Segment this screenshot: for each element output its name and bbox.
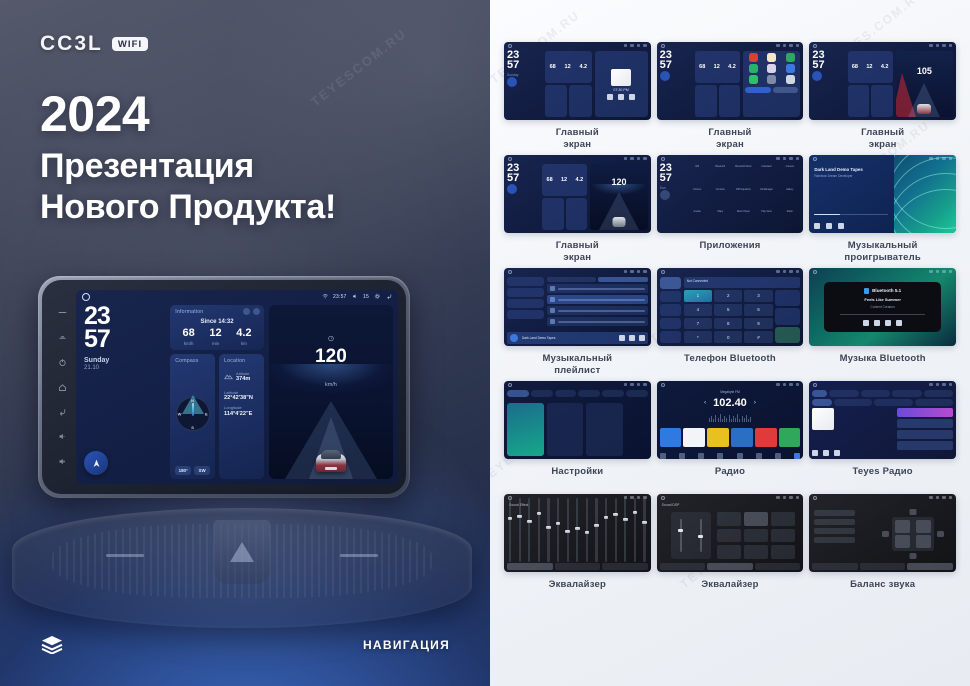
since-label: Since 14:32: [175, 319, 259, 325]
car-plate: [325, 467, 337, 470]
altitude-label: Altitude: [236, 371, 250, 376]
home-circle-icon: [661, 496, 665, 500]
layers-icon: [40, 635, 64, 654]
thumbnail-caption: Главный экран: [861, 127, 904, 151]
favorite-icon[interactable]: [775, 290, 801, 306]
progress-bar[interactable]: [814, 214, 887, 216]
eq-slider[interactable]: [624, 498, 626, 562]
thumb-clock-minutes: 57: [507, 174, 539, 184]
key[interactable]: 4: [684, 304, 712, 316]
thumbnail-caption: Радио: [715, 466, 745, 490]
grid-cell[interactable]: 23 57 Sun Wifi Bluetooth Bluetooth Music…: [657, 155, 804, 264]
call-icon[interactable]: [775, 327, 801, 343]
hero-panel: TEYESCOM.RU TEYESCOM.RU TEYESCOM.RU CC3L…: [0, 0, 490, 686]
grid-cell[interactable]: 23 57 68124.2 105: [809, 42, 956, 151]
grid-cell[interactable]: Megabyte FM ‹ 102.40 ›: [657, 381, 804, 490]
music-visualizer: [894, 155, 956, 233]
compass-dial: N E S W: [175, 366, 210, 464]
clock-day: Sunday: [81, 357, 165, 364]
next-icon[interactable]: [838, 223, 844, 229]
grid-cell[interactable]: Not Connected 1 2 3 4 5 6 7: [657, 268, 804, 377]
bluetooth-icon: [864, 288, 869, 294]
widgets-column: Information Since 14:32 68: [170, 305, 264, 479]
card-wifi[interactable]: [507, 403, 544, 456]
compass-direction: SW: [194, 466, 210, 475]
app-item: DSP Equalizer: [733, 188, 754, 208]
app-item: Radio: [779, 210, 800, 230]
home-circle-icon: [813, 383, 817, 387]
gear-icon[interactable]: [374, 293, 381, 300]
longitude-label: Longitude: [224, 405, 259, 410]
stop-icon[interactable]: [885, 320, 891, 326]
playlist-row[interactable]: [547, 317, 648, 326]
compass-readouts: 180° SW: [175, 466, 210, 475]
key[interactable]: #: [744, 331, 772, 343]
compass-needle: [192, 403, 194, 416]
volume-down-icon[interactable]: [58, 432, 67, 441]
thumbnail-caption: Эквалайзер: [701, 579, 758, 603]
wifi-badge: WIFI: [112, 37, 148, 51]
tab-eq[interactable]: [660, 563, 706, 570]
pause-icon[interactable]: [629, 335, 635, 341]
eq-slider[interactable]: [538, 498, 540, 562]
playback-controls[interactable]: [812, 450, 894, 456]
playlist-row[interactable]: [547, 306, 648, 315]
music-widget[interactable]: 07:30 PM: [595, 51, 648, 117]
playlist-row[interactable]: [547, 284, 648, 293]
bt-track: Feels Like Summer: [864, 297, 900, 302]
speed-road-widget[interactable]: 120 km/h: [269, 305, 393, 479]
eq-slider[interactable]: [634, 498, 636, 562]
dsp-button[interactable]: [717, 529, 741, 543]
dsp-button[interactable]: [771, 529, 795, 543]
thumb-clock-minutes: 57: [660, 174, 684, 184]
car-dashboard-image: 23:57 15 23 57: [0, 258, 490, 686]
key[interactable]: 9: [744, 318, 772, 330]
thumb-clock-minutes: 57: [660, 61, 692, 71]
app-item: Camera: [779, 165, 800, 185]
radio-toolbar[interactable]: [660, 453, 801, 459]
balance-up-button[interactable]: [909, 509, 916, 515]
eq-slider[interactable]: [643, 498, 645, 562]
next-station-icon[interactable]: ›: [754, 400, 756, 406]
hazard-triangle-icon: [230, 542, 254, 562]
tab-fader[interactable]: [602, 563, 648, 570]
back-icon[interactable]: [58, 407, 67, 416]
key[interactable]: 0: [714, 331, 742, 343]
screenshot-grid-panel: TEYESCOM.RU TEYES.COM.RU TEYESCOM.RU TEY…: [490, 0, 970, 686]
home-circle-icon: [813, 44, 817, 48]
grid-cell[interactable]: Баланс звука: [809, 494, 956, 603]
home-circle-icon: [661, 157, 665, 161]
mountain-icon: [224, 368, 233, 386]
tab-dsp[interactable]: [707, 563, 753, 570]
eq-tabs[interactable]: [507, 563, 648, 570]
speed-value: 120: [611, 177, 626, 187]
speed-value: 120: [315, 347, 347, 366]
thumb-clock-minutes: 57: [507, 61, 542, 71]
eq-slider[interactable]: [586, 498, 588, 562]
compass-label-n: N: [191, 398, 194, 403]
grid-cell[interactable]: Teyes Радио: [809, 381, 956, 490]
app-item: Contacts: [710, 188, 731, 208]
station-row[interactable]: [897, 441, 953, 450]
back-arrow-icon[interactable]: [386, 293, 393, 300]
previous-icon[interactable]: [619, 335, 625, 341]
preset-row[interactable]: [814, 537, 855, 543]
thumbnail-caption: Музыка Bluetooth: [840, 353, 926, 377]
speed-unit: km/h: [325, 382, 337, 388]
metric-value: 12: [209, 328, 221, 339]
thumbnail-radio[interactable]: Megabyte FM ‹ 102.40 ›: [657, 381, 804, 459]
grid-cell[interactable]: 23 57 68124.2 120: [504, 155, 651, 264]
thumb-clock-minutes: 57: [812, 61, 844, 71]
eq-slider[interactable]: [567, 498, 569, 562]
thumbnail-settings[interactable]: [504, 381, 651, 459]
grid-cell[interactable]: Sound DSP: [657, 494, 804, 603]
dsp-buttons[interactable]: [717, 512, 796, 559]
location-card[interactable]: Location Altitude 374m: [219, 354, 264, 480]
metric-unit: min: [209, 341, 221, 346]
lower-widgets-row: Compass N E S: [170, 354, 264, 480]
previous-icon[interactable]: [863, 320, 869, 326]
grid-cell[interactable]: Bluetooth 5.1 Feels Like Summer Content …: [809, 268, 956, 377]
vent-slider-right: [340, 554, 378, 557]
thumbnail-home-road[interactable]: 23 57 68124.2 120: [504, 155, 651, 233]
tab-personal[interactable]: [602, 390, 624, 397]
expand-icon[interactable]: [253, 308, 260, 315]
home-circle-icon: [661, 383, 665, 387]
eq-slider[interactable]: [605, 498, 607, 562]
key[interactable]: 8: [714, 318, 742, 330]
stop-icon[interactable]: [823, 450, 829, 456]
screen-body: 23 57 Sunday 21.10: [81, 305, 393, 479]
album-art: [812, 408, 834, 430]
prev-station-icon[interactable]: ‹: [704, 400, 706, 406]
thumbnail-sound-balance[interactable]: [809, 494, 956, 572]
thumbnail-bluetooth-phone[interactable]: Not Connected 1 2 3 4 5 6 7: [657, 268, 804, 346]
thumbnail-grid: 23 57 Sunday 68124.2 07:30 PM: [490, 0, 970, 613]
grid-cell[interactable]: Настройки: [504, 381, 651, 490]
tab-wlan[interactable]: [507, 390, 529, 397]
wifi-icon: [322, 293, 329, 300]
preset-row[interactable]: [814, 528, 855, 534]
home-circle-icon[interactable]: [82, 293, 90, 301]
app-item: Gallery: [779, 188, 800, 208]
car-roof: [321, 450, 341, 459]
playback-controls[interactable]: [863, 320, 902, 326]
station-list[interactable]: [897, 408, 953, 456]
settings-tabs[interactable]: [507, 390, 648, 397]
bt-artist: Content Creators: [871, 305, 895, 309]
tab-sound[interactable]: [531, 390, 553, 397]
altitude-value: 374m: [236, 376, 250, 382]
location-title: Location: [224, 358, 259, 364]
preset-station[interactable]: [731, 428, 753, 447]
preset-row[interactable]: [660, 428, 801, 447]
metric-distance: 4.2 km: [236, 328, 251, 346]
dsp-button[interactable]: [771, 545, 795, 559]
volume-icon[interactable]: [352, 293, 359, 300]
tab-dsp[interactable]: [555, 563, 601, 570]
station-row[interactable]: [897, 430, 953, 439]
station-row[interactable]: [897, 408, 953, 417]
thumbnail-equalizer-bars[interactable]: Sound Effect: [504, 494, 651, 572]
app-item: Play Store: [756, 210, 777, 230]
dsp-sliders[interactable]: [671, 512, 711, 559]
app-item: FileManager: [756, 188, 777, 208]
key[interactable]: 2: [714, 290, 742, 302]
preset-station[interactable]: [683, 428, 705, 447]
apps-panel[interactable]: [743, 51, 800, 117]
tab-dsp[interactable]: [860, 563, 906, 570]
clock-date: 21.10: [81, 365, 165, 371]
compass-label-w: W: [178, 412, 182, 417]
app-icon-grid[interactable]: Wifi Bluetooth Bluetooth Music Calculato…: [687, 164, 801, 230]
thumbnail-home-music[interactable]: 23 57 Sunday 68124.2 07:30 PM: [504, 42, 651, 120]
preset-station[interactable]: [755, 428, 777, 447]
status-bar: 23:57 15: [76, 290, 398, 303]
grid-cell[interactable]: Sound Effect: [504, 494, 651, 603]
app-item: Wifi: [687, 165, 708, 185]
tab-eq[interactable]: [507, 563, 553, 570]
dial-keypad[interactable]: 1 2 3 4 5 6 7 8 9 *: [684, 290, 773, 343]
previous-icon[interactable]: [812, 450, 818, 456]
thumbnail-caption: Настройки: [551, 466, 603, 490]
tab-display[interactable]: [555, 390, 577, 397]
now-playing-title: Dark Land Demo Tapes: [522, 336, 615, 340]
app-item: Chrome: [687, 188, 708, 208]
grid-cell[interactable]: Dark Land Demo Tapes Rainbow Dream Devel…: [809, 155, 956, 264]
key[interactable]: 5: [714, 304, 742, 316]
dsp-button[interactable]: [717, 512, 741, 526]
balance-left-button[interactable]: [882, 531, 889, 537]
thumbnail-caption: Эквалайзер: [549, 579, 606, 603]
eq-slider[interactable]: [595, 498, 597, 562]
balance-down-button[interactable]: [909, 553, 916, 559]
next-icon[interactable]: [639, 335, 645, 341]
center-console: [12, 508, 472, 628]
headline-line-2: Нового Продукта!: [40, 187, 336, 228]
dsp-button[interactable]: [744, 512, 768, 526]
home-circle-icon: [813, 270, 817, 274]
hazard-button[interactable]: [214, 520, 270, 584]
thumbnail-caption: Музыкальный проигрыватель: [844, 240, 920, 264]
balance-right-button[interactable]: [937, 531, 944, 537]
tab-system[interactable]: [626, 390, 648, 397]
app-item: Bluetooth Music: [733, 165, 754, 185]
speed-icon: [327, 329, 334, 336]
track-title: Dark Land Demo Tapes: [814, 167, 890, 172]
volume-up-icon[interactable]: [58, 457, 67, 466]
compass-bearing: 180°: [175, 466, 191, 475]
thumbnail-music-player[interactable]: Dark Land Demo Tapes Rainbow Dream Devel…: [809, 155, 956, 233]
thumbnail-home-speed[interactable]: 23 57 68124.2 105: [809, 42, 956, 120]
thumbnail-caption: Баланс звука: [850, 579, 915, 603]
grid-cell[interactable]: 23 57 68124.2: [657, 42, 804, 151]
radio-frequency: 102.40: [713, 397, 747, 409]
grid-cell[interactable]: Dark Land Demo Tapes Музыкальный плейлис…: [504, 268, 651, 377]
metric-time: 12 min: [209, 328, 221, 346]
eq-slider[interactable]: [615, 498, 617, 562]
key[interactable]: 6: [744, 304, 772, 316]
app-item: Music Player: [733, 210, 754, 230]
key[interactable]: 7: [684, 318, 712, 330]
product-logo: CC3L WIFI: [40, 32, 148, 56]
latitude-label: Latitude: [224, 390, 259, 395]
app-item: Gmaile: [687, 210, 708, 230]
balance-presets[interactable]: [814, 510, 855, 543]
tab-device[interactable]: [578, 390, 600, 397]
eject-icon[interactable]: [58, 308, 67, 317]
eq-slider[interactable]: [547, 498, 549, 562]
now-playing-pane: [812, 408, 894, 456]
home-circle-icon: [508, 44, 512, 48]
eq-tabs[interactable]: [660, 563, 801, 570]
play-pause-icon[interactable]: [874, 320, 880, 326]
eq-preset: Sound DSP: [662, 503, 680, 507]
clock-widget[interactable]: 23 57 Sunday 21.10: [81, 305, 165, 479]
home-circle-icon: [508, 270, 512, 274]
speed-road-widget[interactable]: 105: [896, 51, 953, 117]
speed-road-widget[interactable]: 120: [590, 164, 647, 230]
thumbnail-equalizer-dsp[interactable]: Sound DSP: [657, 494, 804, 572]
compass-card[interactable]: Compass N E S: [170, 354, 215, 480]
headline-line-1: Презентация: [40, 146, 336, 187]
refresh-icon[interactable]: [243, 308, 250, 315]
eq-slider[interactable]: [509, 498, 511, 562]
bt-title: Bluetooth 5.1: [872, 288, 901, 293]
hero-footer: НАВИГАЦИЯ: [40, 635, 450, 654]
metric-unit: km: [236, 341, 251, 346]
bt-music-card: Bluetooth 5.1 Feels Like Summer Content …: [824, 282, 941, 332]
app-item: Calculator: [756, 165, 777, 185]
key[interactable]: 1: [684, 290, 712, 302]
key[interactable]: 3: [744, 290, 772, 302]
metrics-row: 68 km/h 12 min 4.2: [175, 328, 259, 346]
settings-cards[interactable]: [507, 403, 648, 456]
station-row[interactable]: [897, 419, 953, 428]
metric-speed: 68 km/h: [183, 328, 195, 346]
track-artist: Rainbow Dream Developer: [814, 174, 890, 178]
thumbnail-caption: Teyes Радио: [853, 466, 913, 490]
tab-fader[interactable]: [755, 563, 801, 570]
preset-row[interactable]: [814, 519, 855, 525]
pause-icon[interactable]: [826, 223, 832, 229]
compass-title: Compass: [175, 358, 210, 364]
metric-unit: km/h: [183, 341, 195, 346]
app-item: Maps: [710, 210, 731, 230]
now-playing-bar[interactable]: Dark Land Demo Tapes: [507, 332, 648, 344]
presentation-slide: TEYESCOM.RU TEYESCOM.RU TEYESCOM.RU CC3L…: [0, 0, 970, 686]
dsp-button[interactable]: [771, 512, 795, 526]
thumbnail-bluetooth-music[interactable]: Bluetooth 5.1 Feels Like Summer Content …: [809, 268, 956, 346]
clock-minutes: 57: [81, 328, 165, 351]
status-time: 23:57: [333, 294, 347, 300]
information-card[interactable]: Information Since 14:32 68: [170, 305, 264, 350]
balance-pad[interactable]: [892, 517, 934, 551]
dsp-button[interactable]: [744, 529, 768, 543]
grid-cell[interactable]: 23 57 Sunday 68124.2 07:30 PM: [504, 42, 651, 151]
navigation-label: НАВИГАЦИЯ: [363, 638, 450, 652]
head-unit-bezel: 23:57 15 23 57: [38, 276, 410, 498]
previous-icon[interactable]: [814, 223, 820, 229]
preset-station[interactable]: [660, 428, 682, 447]
hardware-button-strip[interactable]: [51, 292, 73, 482]
thumbnail-caption: Приложения: [699, 240, 760, 264]
thumbnail-caption: Главный экран: [556, 240, 599, 264]
preset-row[interactable]: [814, 510, 855, 516]
backspace-icon[interactable]: [775, 308, 801, 324]
headline: 2024 Презентация Нового Продукта!: [40, 88, 336, 228]
speed-value: 105: [917, 66, 932, 76]
home-circle-icon: [661, 44, 665, 48]
home-icon[interactable]: [58, 383, 67, 392]
compass-face: N E S W: [176, 397, 210, 431]
playlist-row[interactable]: [547, 295, 648, 304]
thumbnail-apps[interactable]: 23 57 Sun Wifi Bluetooth Bluetooth Music…: [657, 155, 804, 233]
bt-status: Not Connected: [687, 279, 798, 283]
playback-controls[interactable]: [814, 223, 844, 229]
next-icon[interactable]: [896, 320, 902, 326]
dsp-button[interactable]: [717, 545, 741, 559]
eq-slider[interactable]: [519, 498, 521, 562]
car-3d-model: [316, 446, 346, 472]
home-circle-icon: [508, 383, 512, 387]
logo-text: CC3L: [40, 32, 103, 56]
power-icon[interactable]: [58, 358, 67, 367]
preset-station[interactable]: [779, 428, 801, 447]
longitude-row: Longitude 114°4'22"E: [224, 405, 259, 417]
longitude-value: 114°4'22"E: [224, 411, 259, 417]
app-item: Bluetooth: [710, 165, 731, 185]
status-volume: 15: [363, 294, 369, 300]
music-time: 07:30 PM: [613, 88, 628, 92]
thumbnail-home-apps[interactable]: 23 57 68124.2: [657, 42, 804, 120]
thumbnail-teyes-radio[interactable]: [809, 381, 956, 459]
card-more[interactable]: [586, 403, 623, 456]
mute-icon[interactable]: [58, 333, 67, 342]
tuning-scale[interactable]: [660, 414, 801, 422]
eq-slider[interactable]: [557, 498, 559, 562]
key[interactable]: *: [684, 331, 712, 343]
head-unit-screen[interactable]: 23:57 15 23 57: [76, 290, 398, 484]
vent-slider-left: [106, 554, 144, 557]
dsp-button[interactable]: [744, 545, 768, 559]
metric-value: 4.2: [236, 328, 251, 339]
home-circle-icon: [813, 496, 817, 500]
information-actions[interactable]: [243, 308, 260, 315]
thumbnail-caption: Главный экран: [556, 127, 599, 151]
thumbnail-caption: Музыкальный плейлист: [542, 353, 612, 377]
tab-eq[interactable]: [812, 563, 858, 570]
thumbnail-caption: Телефон Bluetooth: [684, 353, 776, 377]
navigation-arrow-icon[interactable]: [84, 451, 108, 475]
metric-value: 68: [183, 328, 195, 339]
preset-station[interactable]: [707, 428, 729, 447]
headline-year: 2024: [40, 88, 336, 141]
card-traffic[interactable]: [547, 403, 584, 456]
next-icon[interactable]: [834, 450, 840, 456]
tab-fader[interactable]: [907, 563, 953, 570]
home-circle-icon: [661, 270, 665, 274]
eq-tabs[interactable]: [812, 563, 953, 570]
home-circle-icon: [508, 157, 512, 161]
thumbnail-music-playlist[interactable]: Dark Land Demo Tapes: [504, 268, 651, 346]
compass-label-s: S: [191, 425, 194, 430]
thumbnail-caption: Главный экран: [708, 127, 751, 151]
radio-band: Megabyte FM: [660, 390, 801, 394]
